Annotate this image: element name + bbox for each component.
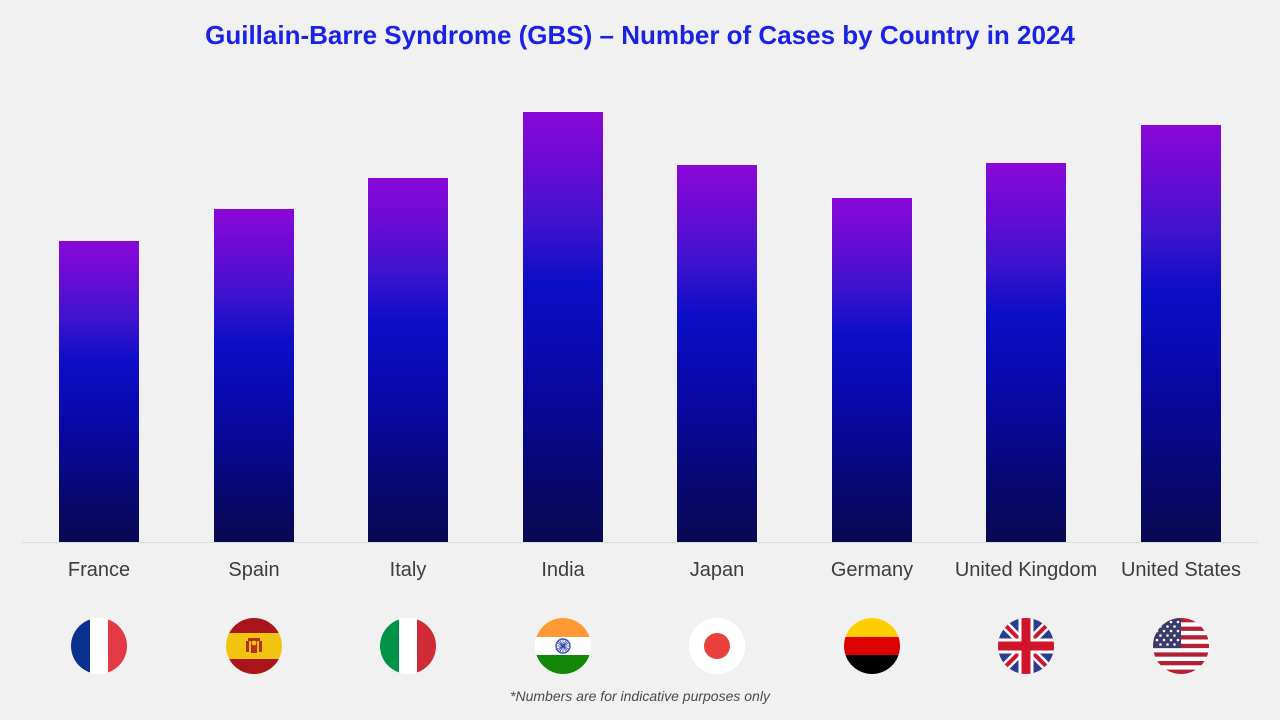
chart-container: Guillain-Barre Syndrome (GBS) – Number o… [0,0,1280,720]
flag-spain-icon [226,618,282,674]
category-label: Japan [637,556,797,585]
bar[interactable] [368,178,448,543]
bar[interactable] [832,198,912,543]
bar-column [59,241,139,543]
bar[interactable] [986,163,1066,543]
bar[interactable] [59,241,139,543]
bar[interactable] [1141,125,1221,543]
category-label: Germany [792,556,952,585]
category-label: Spain [174,556,334,585]
bar-column [1141,125,1221,543]
category-label: France [19,556,179,585]
bar-column [214,209,294,543]
bar[interactable] [214,209,294,543]
flag-germany-icon [844,618,900,674]
category-label: United States [1101,556,1261,585]
category-label: United Kingdom [946,556,1106,585]
flag-italy-icon [380,618,436,674]
bar-column [523,112,603,543]
flag-united-kingdom-icon [998,618,1054,674]
bar-column [986,163,1066,543]
flag-france-icon [71,618,127,674]
bar-column [677,165,757,543]
category-labels-row: FranceSpainItalyIndiaJapanGermanyUnited … [0,556,1280,618]
bar-column [368,178,448,543]
flag-united-states-icon [1153,618,1209,674]
bar[interactable] [677,165,757,543]
plot-area [0,0,1280,543]
x-axis-line [22,542,1258,543]
category-label: Italy [328,556,488,585]
country-flags-row [0,618,1280,674]
chart-footnote: *Numbers are for indicative purposes onl… [0,688,1280,704]
flag-india-icon [535,618,591,674]
bar-column [832,198,912,543]
bar[interactable] [523,112,603,543]
category-label: India [483,556,643,585]
flag-japan-icon [689,618,745,674]
